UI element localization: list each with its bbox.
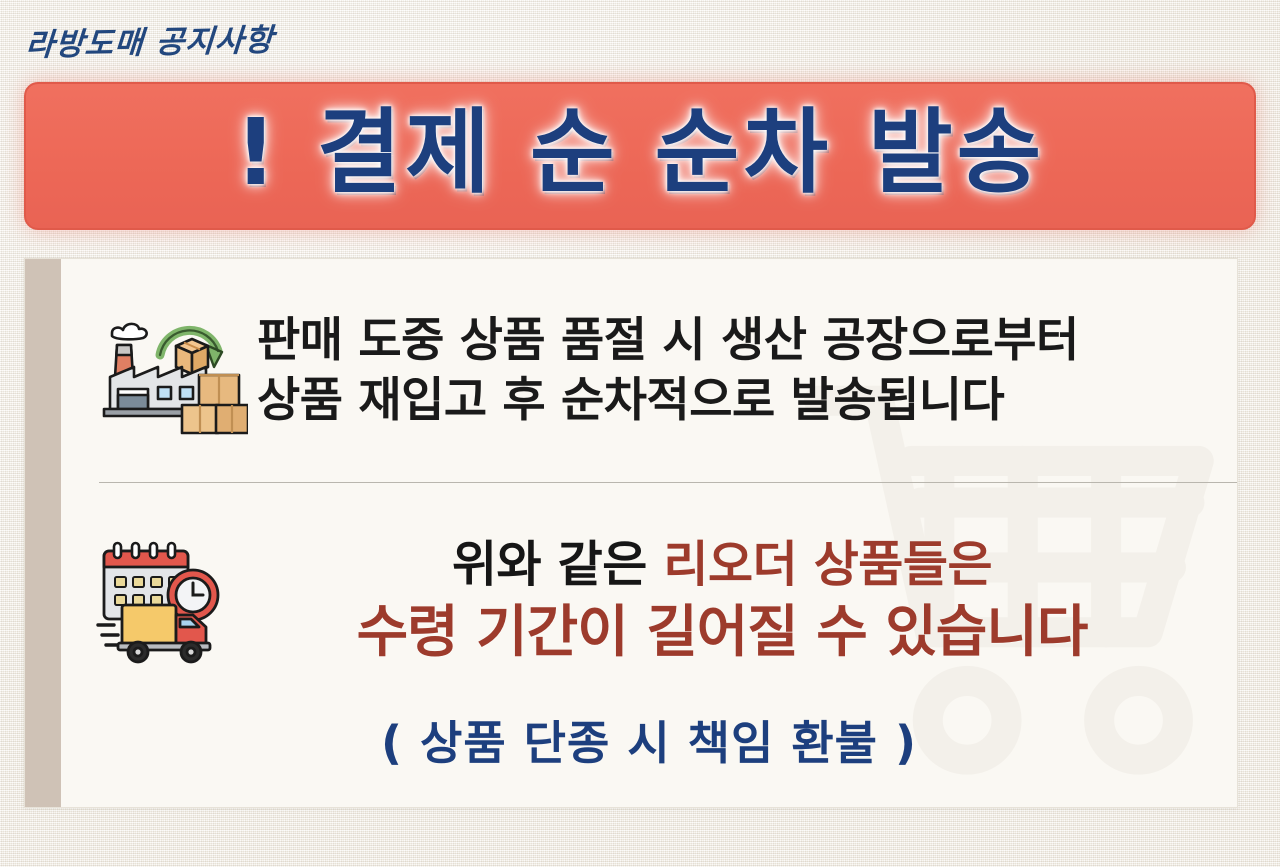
notice-section-restock: 판매 도중 상품 품절 시 생산 공장으로부터 상품 재입고 후 순차적으로 발… [89, 273, 1219, 469]
restock-line-2: 상품 재입고 후 순차적으로 발송됩니다 [257, 371, 1219, 431]
factory-restock-icon-cell [89, 305, 257, 437]
notice-card: 판매 도중 상품 품절 시 생산 공장으로부터 상품 재입고 후 순차적으로 발… [24, 258, 1238, 808]
calendar-clock-truck-icon-cell [83, 533, 251, 669]
factory-restock-icon [98, 305, 248, 437]
restock-text-block: 판매 도중 상품 품절 시 생산 공장으로부터 상품 재입고 후 순차적으로 발… [257, 311, 1219, 431]
reorder-line-1: 위와 같은 리오더 상품들은 [231, 534, 1213, 597]
notice-kicker-label: 라방도매 공지사항 [24, 14, 275, 64]
banner-title-text: ! 결제 순 순차 발송 [235, 107, 1046, 205]
card-accent-bar [25, 259, 61, 807]
calendar-clock-truck-icon [92, 533, 242, 669]
restock-line-1: 판매 도중 상품 품절 시 생산 공장으로부터 [257, 311, 1219, 371]
card-content-area: 판매 도중 상품 품절 시 생산 공장으로부터 상품 재입고 후 순차적으로 발… [61, 259, 1237, 807]
notice-section-reorder: 위와 같은 리오더 상품들은 수령 기간이 길어질 수 있습니다 [83, 507, 1213, 695]
title-banner: ! 결제 순 순차 발송 [24, 82, 1256, 230]
reorder-text-block: 위와 같은 리오더 상품들은 수령 기간이 길어질 수 있습니다 [231, 534, 1213, 668]
refund-footnote: ( 상품 단종 시 책임 환불 ) [61, 707, 1237, 773]
reorder-line-2: 수령 기간이 길어질 수 있습니다 [231, 597, 1213, 669]
reorder-line-1-plain: 위와 같은 [452, 536, 663, 593]
reorder-line-1-highlight: 리오더 상품들은 [663, 536, 992, 593]
section-divider [99, 482, 1237, 483]
